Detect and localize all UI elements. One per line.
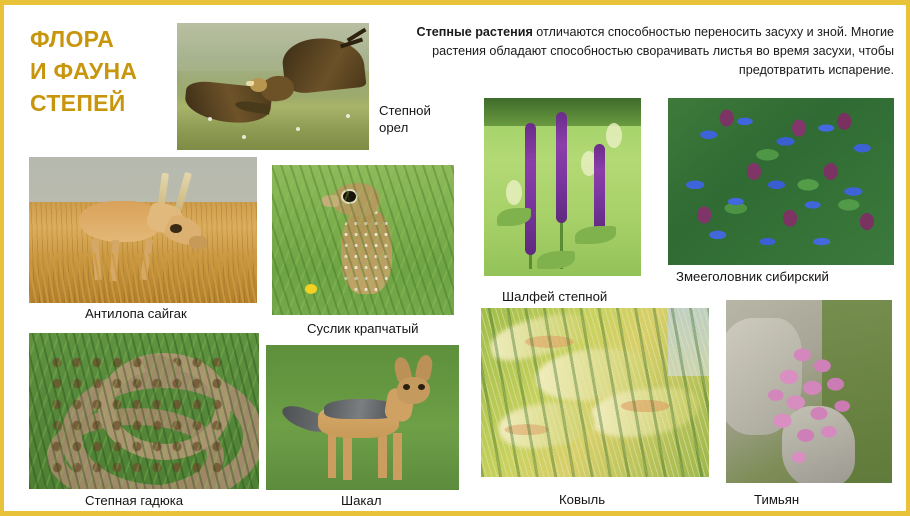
salvia-pale-bloom-2 [506, 180, 522, 205]
kovyl-dark-blades [481, 308, 709, 477]
suslik-scene [272, 165, 454, 315]
title-line-1: ФЛОРА [30, 23, 180, 55]
photo-thyme [726, 300, 892, 483]
photo-siberian-dragonhead [668, 98, 894, 265]
photo-feather-grass [481, 308, 709, 477]
salvia-pale-bloom-3 [606, 123, 622, 148]
saiga-eye [170, 224, 181, 233]
saiga-scene [29, 157, 257, 303]
suslik-grass-blades [272, 165, 454, 315]
saiga-nose [189, 236, 207, 249]
photo-steppe-viper [29, 333, 259, 489]
jackal-scene [266, 345, 459, 490]
salvia-scene [484, 98, 641, 276]
viper-scene [29, 333, 259, 489]
caption-feather-grass: Ковыль [559, 491, 605, 508]
salvia-flower-spike-2 [556, 112, 567, 222]
thyme-pink-flowers [726, 300, 892, 483]
page-title: ФЛОРА И ФАУНА СТЕПЕЙ [30, 23, 180, 119]
poster-frame: ФЛОРА И ФАУНА СТЕПЕЙ Степные растения от… [0, 0, 910, 516]
dragon-scene [668, 98, 894, 265]
eagle-flower-1 [208, 117, 212, 121]
viper-grass-blades [29, 333, 259, 489]
title-line-2: И ФАУНА [30, 55, 180, 87]
caption-speckled-ground-squirrel: Суслик крапчатый [307, 320, 418, 337]
dragon-purple-bracts [668, 98, 894, 265]
photo-saiga-antelope [29, 157, 257, 303]
photo-steppe-sage [484, 98, 641, 276]
caption-steppe-eagle: Степной орел [379, 102, 474, 136]
caption-thyme: Тимьян [754, 491, 799, 508]
caption-siberian-dragonhead: Змееголовник сибирский [676, 268, 829, 285]
intro-paragraph: Степные растения отличаются способностью… [394, 23, 894, 80]
saiga-foreground-grass [29, 253, 257, 303]
eagle-scene [177, 23, 369, 150]
jackal-leg-4 [393, 433, 402, 479]
photo-jackal [266, 345, 459, 490]
jackal-eye-left [403, 384, 410, 390]
title-line-3: СТЕПЕЙ [30, 87, 180, 119]
salvia-flower-spike-1 [525, 123, 536, 255]
kovyl-scene [481, 308, 709, 477]
caption-steppe-sage: Шалфей степной [502, 288, 607, 305]
intro-lead: Степные растения [417, 25, 533, 39]
photo-speckled-ground-squirrel [272, 165, 454, 315]
caption-steppe-viper: Степная гадюка [85, 492, 183, 509]
salvia-flower-spike-3 [594, 144, 605, 233]
caption-jackal: Шакал [341, 492, 382, 509]
caption-saiga-antelope: Антилопа сайгак [85, 305, 187, 322]
caption-eagle-line-1: Степной [379, 102, 474, 119]
caption-eagle-line-2: орел [379, 119, 474, 136]
jackal-leg-2 [343, 433, 352, 479]
photo-steppe-eagle [177, 23, 369, 150]
saiga-sky [29, 157, 257, 205]
jackal-leg-1 [328, 432, 337, 478]
jackal-leg-3 [378, 432, 387, 478]
thyme-scene [726, 300, 892, 483]
poster-canvas: ФЛОРА И ФАУНА СТЕПЕЙ Степные растения от… [4, 5, 906, 511]
